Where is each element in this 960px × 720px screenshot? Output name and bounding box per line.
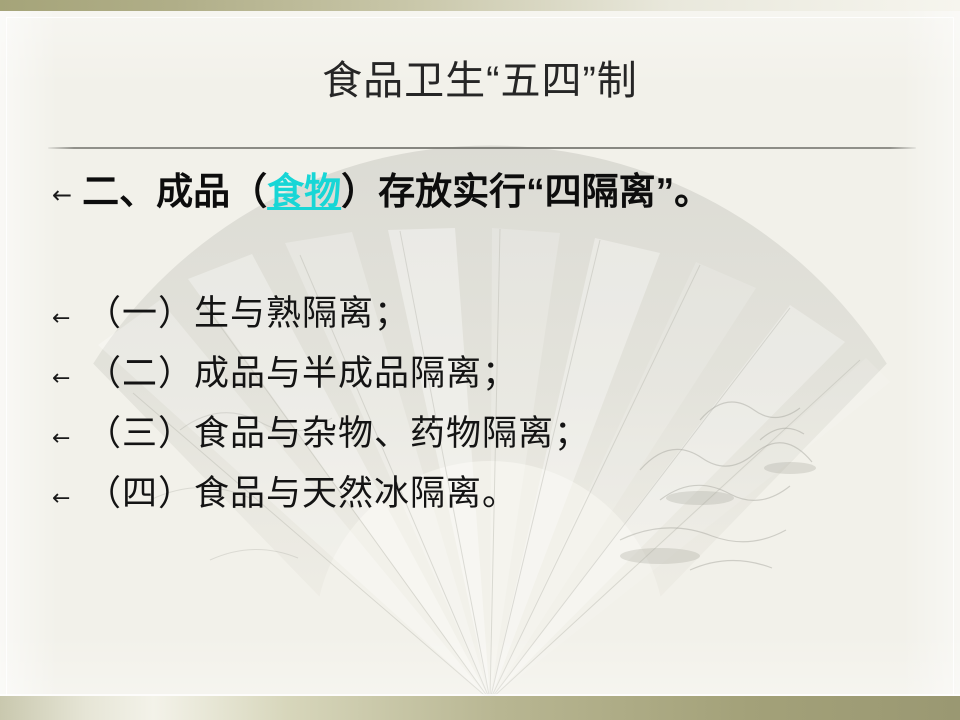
title-divider	[48, 147, 916, 149]
page-title: 食品卫生“五四”制	[0, 58, 960, 104]
list-item: ← （二）成品与半成品隔离；	[52, 352, 912, 412]
list-item: ← （四）食品与天然冰隔离。	[52, 472, 912, 532]
arrow-left-icon: ←	[52, 488, 86, 510]
heading-prefix: 二、成品（	[82, 171, 267, 212]
slide-canvas: 食品卫生“五四”制 ← 二、成品（食物）存放实行“四隔离”。 ← （一）生与熟隔…	[0, 0, 960, 720]
top-accent-band	[0, 0, 960, 11]
list-item-label: （二）成品与半成品隔离；	[86, 352, 518, 396]
arrow-left-icon: ←	[52, 428, 86, 450]
list-item: ← （三）食品与杂物、药物隔离；	[52, 412, 912, 472]
list-item-label: （四）食品与天然冰隔离。	[86, 472, 518, 516]
arrow-left-icon: ←	[52, 308, 86, 330]
slide-content: 食品卫生“五四”制 ← 二、成品（食物）存放实行“四隔离”。 ← （一）生与熟隔…	[0, 0, 960, 720]
bottom-accent-band	[0, 696, 960, 720]
arrow-left-icon: ←	[52, 368, 86, 390]
heading-highlight-link[interactable]: 食物	[267, 171, 341, 212]
bullet-list: ← （一）生与熟隔离； ← （二）成品与半成品隔离； ← （三）食品与杂物、药物…	[52, 292, 912, 532]
heading-suffix: ）存放实行“四隔离”。	[341, 171, 711, 212]
list-item-label: （三）食品与杂物、药物隔离；	[86, 412, 590, 456]
arrow-left-icon: ←	[52, 183, 72, 207]
list-item: ← （一）生与熟隔离；	[52, 292, 912, 352]
list-item-label: （一）生与熟隔离；	[86, 292, 410, 336]
section-heading: ← 二、成品（食物）存放实行“四隔离”。	[52, 172, 711, 213]
section-heading-text: 二、成品（食物）存放实行“四隔离”。	[82, 172, 711, 213]
